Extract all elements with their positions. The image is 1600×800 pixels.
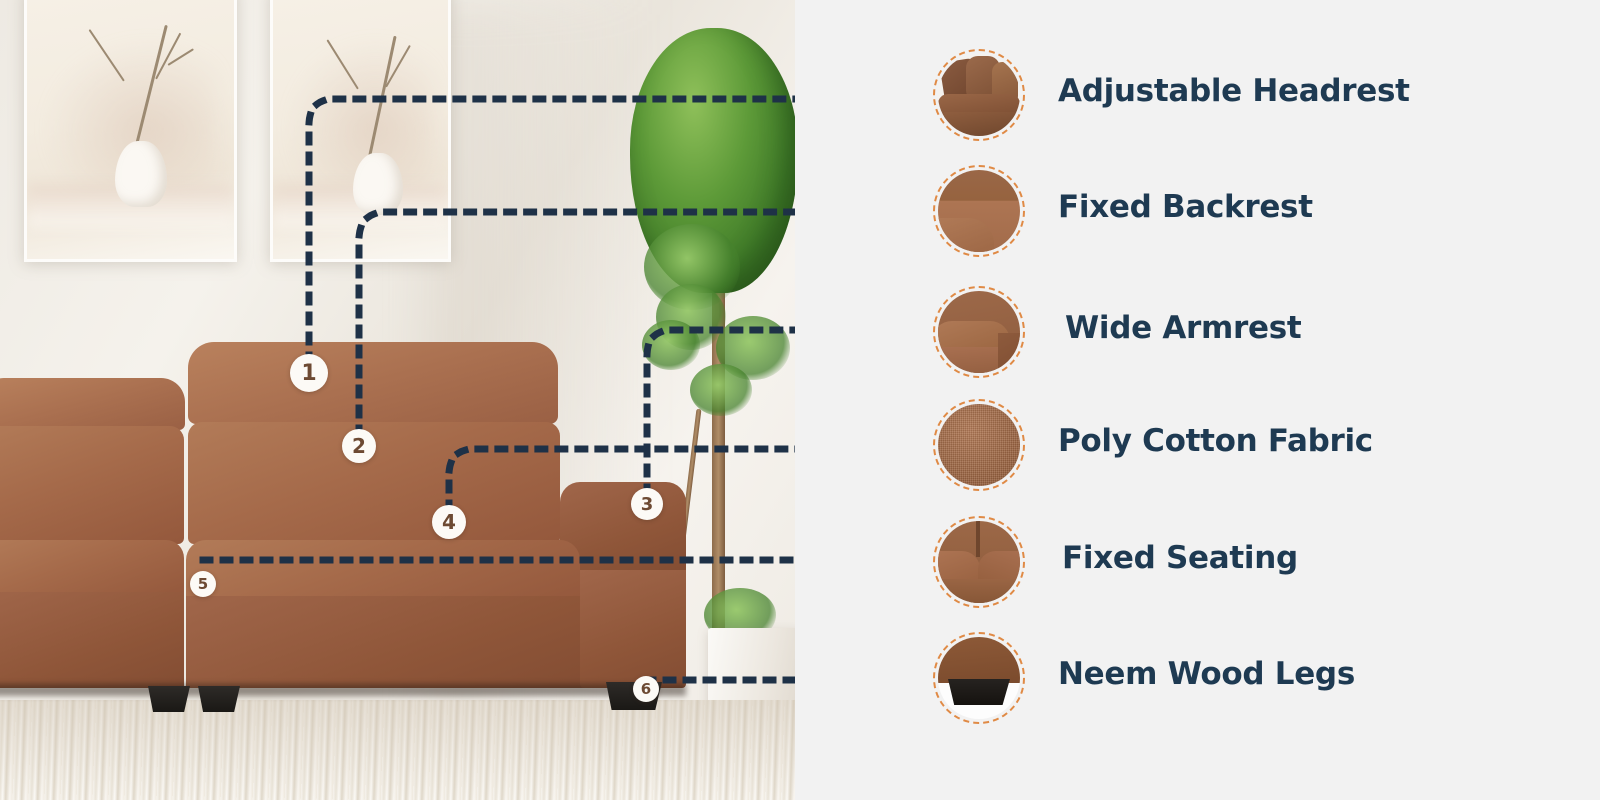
- callout-marker-4[interactable]: 4: [432, 505, 466, 539]
- sofa-leg-1: [148, 686, 190, 712]
- feature-thumb-seating[interactable]: [933, 516, 1025, 608]
- feature-thumb-fabric[interactable]: [933, 399, 1025, 491]
- feature-thumb-wood-leg[interactable]: [933, 632, 1025, 724]
- wall-art-frame-right: [270, 0, 451, 262]
- sofa: [0, 340, 740, 720]
- seat-cushion-left: [0, 540, 184, 596]
- feature-label-2: Fixed Backrest: [1058, 189, 1313, 225]
- sofa-base-right: [580, 570, 686, 688]
- feature-panel: Adjustable Headrest Fixed Backrest Wide …: [795, 0, 1600, 800]
- feature-thumb-backrest[interactable]: [933, 165, 1025, 257]
- feature-label-6: Neem Wood Legs: [1058, 656, 1355, 692]
- callout-marker-1[interactable]: 1: [290, 354, 328, 392]
- sofa-base-left: [0, 592, 184, 688]
- infographic-canvas: 123456 Adjustable Headrest Fixed Backres…: [0, 0, 1600, 800]
- feature-thumb-headrest[interactable]: [933, 49, 1025, 141]
- callout-marker-2[interactable]: 2: [342, 429, 376, 463]
- sofa-base-center: [186, 596, 586, 688]
- wall-art-frame-left: [24, 0, 237, 262]
- callout-marker-6[interactable]: 6: [633, 676, 659, 702]
- backrest-left: [0, 426, 184, 544]
- seat-cushion-center: [186, 540, 580, 602]
- sofa-leg-2: [198, 686, 240, 712]
- sofa-underside-shadow: [0, 684, 686, 696]
- callout-marker-5[interactable]: 5: [190, 571, 216, 597]
- feature-label-1: Adjustable Headrest: [1058, 73, 1410, 109]
- feature-label-5: Fixed Seating: [1062, 540, 1298, 576]
- feature-label-4: Poly Cotton Fabric: [1058, 423, 1373, 459]
- feature-thumb-armrest[interactable]: [933, 286, 1025, 378]
- feature-label-3: Wide Armrest: [1065, 310, 1301, 346]
- headrest-left: [0, 378, 185, 430]
- product-photo: [0, 0, 795, 800]
- headrest-center: [188, 342, 558, 424]
- callout-marker-3[interactable]: 3: [631, 488, 663, 520]
